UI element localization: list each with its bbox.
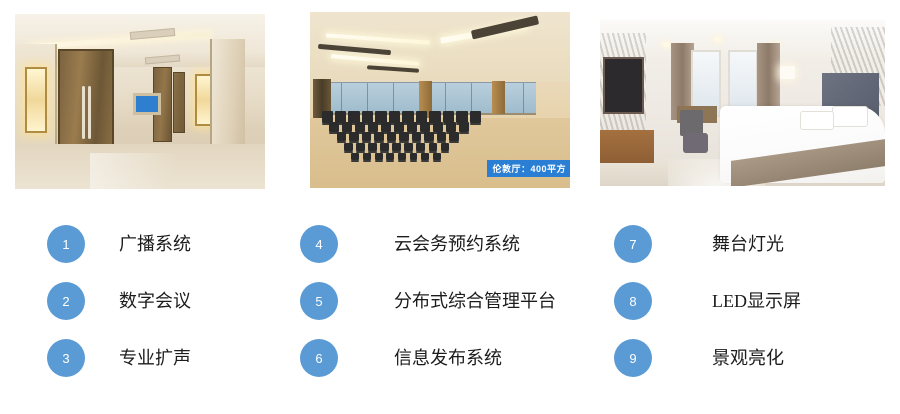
hall-chair [374,132,384,141]
hall-chair [456,111,467,122]
item-label: 广播系统 [119,235,191,253]
hall-chair [441,143,450,151]
hall-chair [329,122,339,132]
feature-column-3: 7 舞台灯光 8 LED显示屏 9 景观亮化 [614,200,900,414]
hall-chair [389,111,400,122]
photo-guest-room [600,20,885,186]
hall-chair-seat [398,160,406,162]
hall-chair [386,153,394,160]
hall-chair [337,132,347,141]
hall-chair [387,132,397,141]
item-label: 景观亮化 [712,349,784,367]
feature-list: 1 广播系统 2 数字会议 3 专业扩声 4 云会务预约系统 5 分布式综合管理… [0,200,900,414]
hall-chair [420,122,430,132]
item-number-badge: 1 [47,225,85,263]
photo-strip: 伦敦厅：400平方 [0,0,900,200]
hall-seating-rows [318,107,505,177]
item-label: 舞台灯光 [712,235,784,253]
room-ottoman [683,133,709,153]
hall-chair [375,153,383,160]
hall-chair [424,132,434,141]
item-number-badge: 7 [614,225,652,263]
feature-column-2: 4 云会务预约系统 5 分布式综合管理平台 6 信息发布系统 [300,200,590,414]
hall-chair [433,153,441,160]
hall-chair [344,143,353,151]
list-item[interactable]: 2 数字会议 [47,282,191,320]
photo-lobby-content [15,14,265,189]
item-number-badge: 6 [300,339,338,377]
item-label: 分布式综合管理平台 [394,292,556,310]
hall-chair [443,111,454,122]
list-item[interactable]: 9 景观亮化 [614,339,784,377]
hall-chair [429,111,440,122]
hall-chair-seat [470,123,481,125]
hall-chair-seat [363,160,371,162]
item-label: 专业扩声 [119,349,191,367]
list-item[interactable]: 3 专业扩声 [47,339,191,377]
hall-chair [398,153,406,160]
list-item[interactable]: 6 信息发布系统 [300,339,502,377]
hall-chair-seat [433,160,441,162]
hall-chair [412,132,422,141]
item-number-badge: 4 [300,225,338,263]
hall-chair [416,111,427,122]
hall-chair-seat [459,132,469,134]
hall-chair [446,122,456,132]
hall-chair [394,122,404,132]
room-pillow [832,106,868,126]
hall-chair [348,111,359,122]
list-item[interactable]: 8 LED显示屏 [614,282,801,320]
photo-conference-hall: 伦敦厅：400平方 [310,12,570,188]
hall-room-caption: 伦敦厅：400平方 [487,160,570,177]
item-label: 云会务预约系统 [394,235,520,253]
hall-chair-seat [441,151,450,153]
hall-chair [381,122,391,132]
item-number-badge: 3 [47,339,85,377]
hall-chair [449,132,459,141]
room-television [603,57,644,114]
hall-chair [421,153,429,160]
item-label: LED显示屏 [712,292,801,310]
hall-chair [437,132,447,141]
hall-chair [335,111,346,122]
lobby-elevator-doors [173,72,185,134]
hall-chair [356,143,365,151]
hall-chair [429,143,438,151]
hall-chair-seat [386,160,394,162]
hall-chair [407,122,417,132]
feature-column-1: 1 广播系统 2 数字会议 3 专业扩声 [47,200,337,414]
hall-chair-seat [410,160,418,162]
hall-chair [322,111,333,122]
hall-chair [392,143,401,151]
hall-chair [380,143,389,151]
item-number-badge: 9 [614,339,652,377]
hall-chair [362,132,372,141]
room-downlight [714,37,721,42]
hall-chair [362,111,373,122]
hall-chair [404,143,413,151]
hall-chair-seat [351,160,359,162]
item-label: 数字会议 [119,292,191,310]
item-number-badge: 5 [300,282,338,320]
hall-chair-seat [449,141,459,143]
room-floor-lamp [780,66,795,79]
room-downlight [663,42,670,47]
hall-chair-seat [375,160,383,162]
hall-chair [402,111,413,122]
hall-chair [363,153,371,160]
item-number-badge: 8 [614,282,652,320]
lobby-display-panel [133,93,161,115]
item-label: 信息发布系统 [394,349,502,367]
hall-chair-seat [421,160,429,162]
room-pillow [800,111,833,130]
hall-chair [459,122,469,132]
list-item[interactable]: 5 分布式综合管理平台 [300,282,556,320]
hall-chair [433,122,443,132]
hall-chair [351,153,359,160]
lobby-wall-sconce [25,67,47,133]
hall-chair [375,111,386,122]
hall-chair [368,122,378,132]
list-item[interactable]: 4 云会务预约系统 [300,225,520,263]
hall-chair [399,132,409,141]
photo-hotel-lobby [15,14,265,189]
hall-chair [355,122,365,132]
hall-chair [368,143,377,151]
hall-chair [416,143,425,151]
item-number-badge: 2 [47,282,85,320]
list-item[interactable]: 1 广播系统 [47,225,191,263]
list-item[interactable]: 7 舞台灯光 [614,225,784,263]
hall-chair [349,132,359,141]
photo-hall-content: 伦敦厅：400平方 [310,12,570,188]
hall-chair [470,111,481,122]
photo-room-content [600,20,885,186]
hall-chair [410,153,418,160]
hall-chair [342,122,352,132]
lobby-floor [15,144,265,190]
